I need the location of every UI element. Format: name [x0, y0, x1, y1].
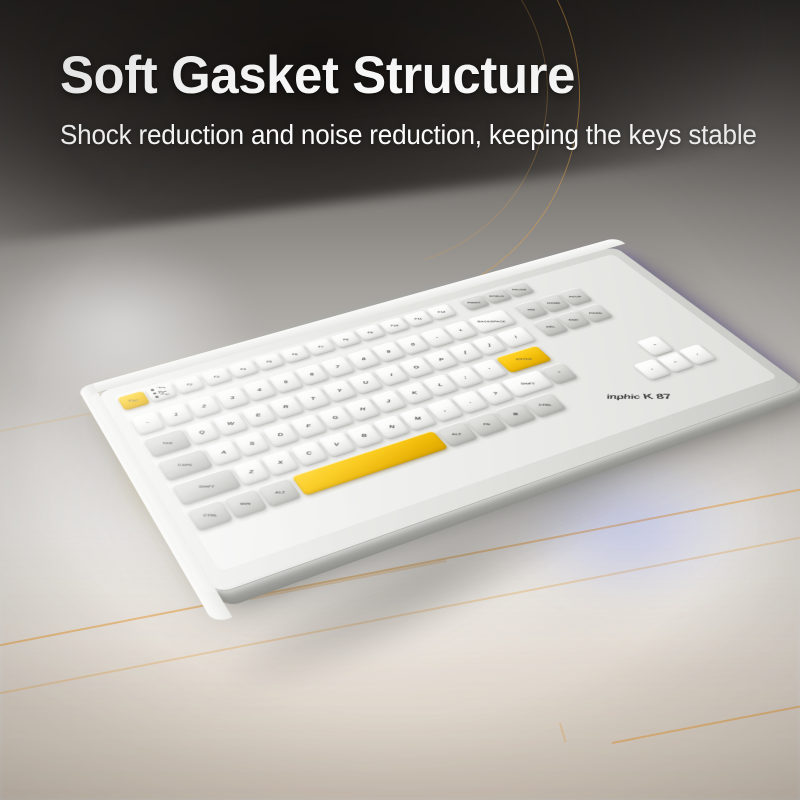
- product-banner: Soft Gasket Structure Shock reduction an…: [0, 0, 800, 800]
- vignette-overlay: [0, 0, 800, 800]
